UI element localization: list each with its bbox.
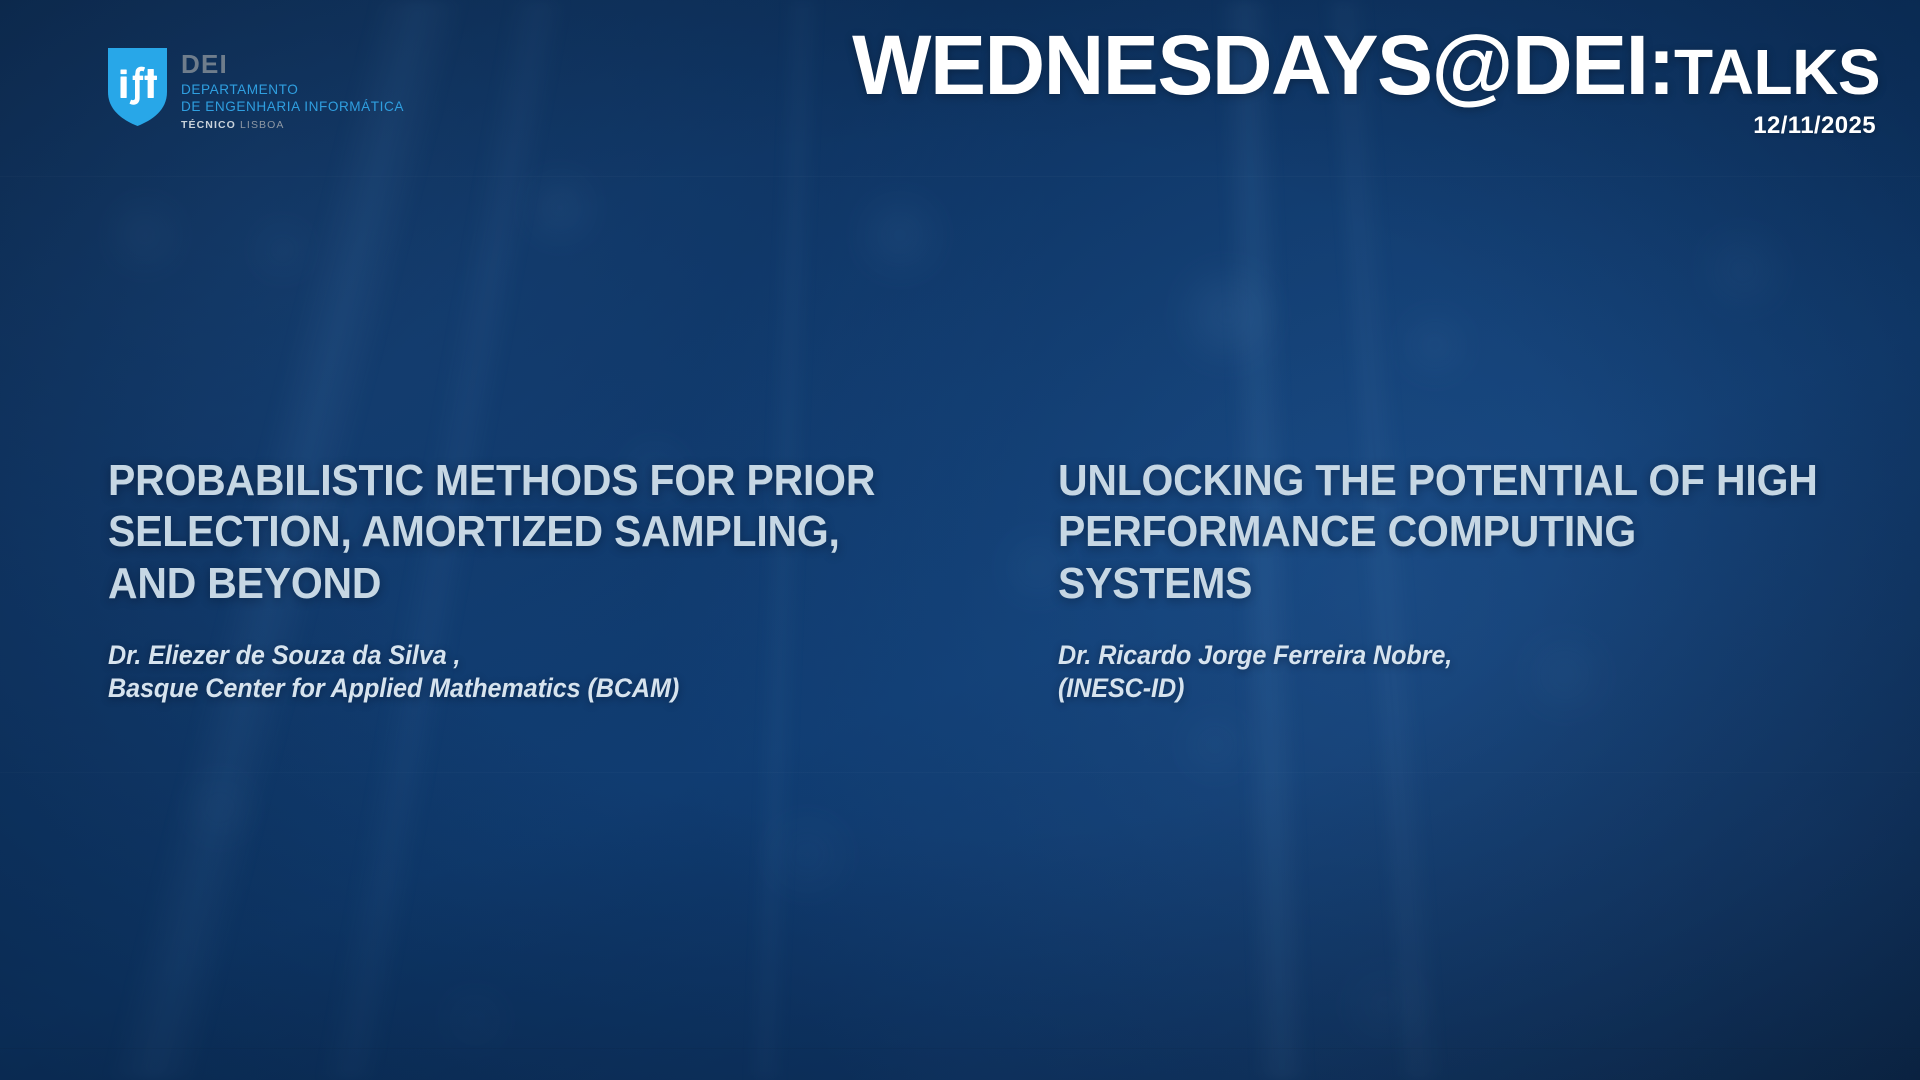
talk-card-2: UNLOCKING THE POTENTIAL OF HIGH PERFORMA… <box>1058 455 1920 706</box>
poster-stage: DEI DEPARTAMENTO DE ENGENHARIA INFORMÁTI… <box>0 0 1920 1080</box>
wordmark-title-line: WEDNESDAYS@DEI:TALKS <box>852 26 1880 106</box>
talk-speaker-1: Dr. Eliezer de Souza da Silva , Basque C… <box>108 639 895 706</box>
event-wordmark: WEDNESDAYS@DEI:TALKS 12/11/2025 <box>852 26 1880 140</box>
poster-header: DEI DEPARTAMENTO DE ENGENHARIA INFORMÁTI… <box>0 0 1920 185</box>
talk-title-2: UNLOCKING THE POTENTIAL OF HIGH PERFORMA… <box>1058 455 1828 609</box>
talks-container: PROBABILISTIC METHODS FOR PRIOR SELECTIO… <box>0 455 1920 706</box>
wordmark-main: WEDNESDAYS@DEI: <box>852 18 1674 112</box>
dei-institution: TÉCNICO LISBOA <box>181 119 404 132</box>
talk-title-1: PROBABILISTIC METHODS FOR PRIOR SELECTIO… <box>108 455 878 609</box>
dei-institution-light: LISBOA <box>240 119 285 131</box>
event-date: 12/11/2025 <box>852 112 1880 140</box>
dei-department-line1: DEPARTAMENTO <box>181 81 404 98</box>
dei-acronym: DEI <box>181 51 404 78</box>
dei-institution-bold: TÉCNICO <box>181 119 236 131</box>
ist-shield-icon <box>108 48 167 126</box>
talk-card-1: PROBABILISTIC METHODS FOR PRIOR SELECTIO… <box>108 455 970 706</box>
dei-brand-lockup: DEI DEPARTAMENTO DE ENGENHARIA INFORMÁTI… <box>108 48 404 131</box>
dei-department-line2: DE ENGENHARIA INFORMÁTICA <box>181 98 404 115</box>
talk-speaker-2: Dr. Ricardo Jorge Ferreira Nobre, (INESC… <box>1058 639 1845 706</box>
dei-brand-text: DEI DEPARTAMENTO DE ENGENHARIA INFORMÁTI… <box>181 48 404 131</box>
wordmark-suffix: TALKS <box>1674 36 1880 108</box>
